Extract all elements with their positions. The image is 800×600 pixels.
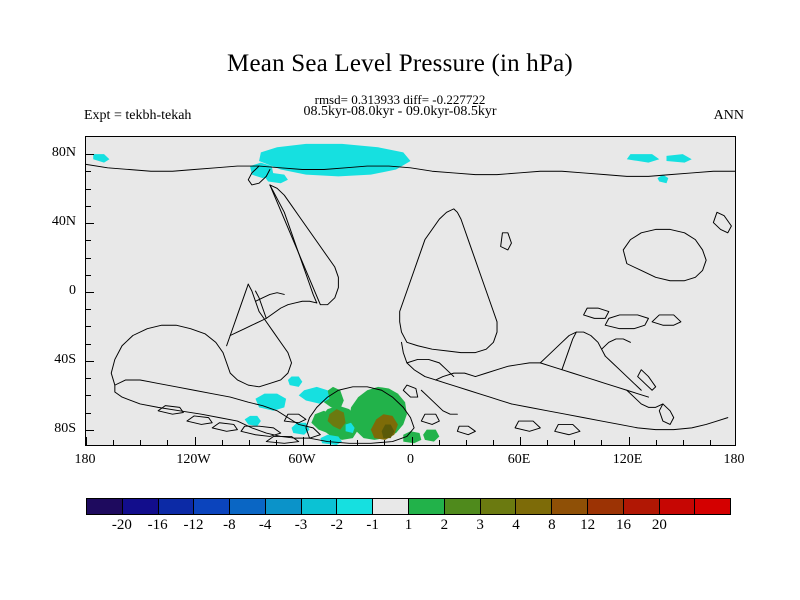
colorbar-tick-label: 1: [405, 517, 413, 534]
x-tick-minor: [656, 440, 657, 445]
colorbar-segment-10: [444, 499, 480, 514]
y-axis-label-0: 80N: [30, 145, 76, 161]
y-tick-minor: [86, 240, 91, 241]
colorbar-tick-label: 2: [441, 517, 449, 534]
anomaly-svalbard-green: [423, 430, 439, 442]
x-tick-minor: [167, 440, 168, 445]
x-tick-minor: [493, 440, 494, 445]
x-axis-label-6: 180: [724, 452, 745, 468]
anomaly-spacific-cyan-2: [666, 154, 691, 163]
colorbar-segment-8: [372, 499, 408, 514]
colorbar-segment-7: [336, 499, 372, 514]
y-axis-label-4: 80S: [30, 421, 76, 437]
y-tick-minor: [86, 326, 91, 327]
x-tick-180w: [86, 437, 87, 445]
x-axis-label-2: 60W: [288, 452, 315, 468]
y-tick-minor: [86, 189, 91, 190]
y-axis-label-3: 40S: [30, 352, 76, 368]
page-title: Mean Sea Level Pressure (in hPa): [0, 50, 800, 78]
x-tick-minor: [601, 440, 602, 445]
x-tick-minor: [574, 440, 575, 445]
x-tick-120w: [195, 437, 196, 445]
colorbar-segment-3: [193, 499, 229, 514]
colorbar-tick-label: 3: [476, 517, 484, 534]
colorbar-tick-label: -16: [148, 517, 168, 534]
y-tick-minor: [86, 258, 91, 259]
colorbar-tick-label: -12: [184, 517, 204, 534]
anomaly-baffin-cyan: [299, 387, 330, 404]
x-tick-60w: [303, 437, 304, 445]
y-tick-40s: [86, 361, 94, 362]
anomaly-spacific-cyan-1: [627, 154, 659, 163]
x-axis-label-3: 0: [407, 452, 414, 468]
y-tick-80s: [86, 430, 94, 431]
y-tick-minor: [86, 309, 91, 310]
experiment-label: Expt = tekbh-tekah: [84, 108, 191, 124]
x-tick-0: [412, 437, 413, 445]
x-tick-minor: [113, 440, 114, 445]
y-tick-minor: [86, 413, 91, 414]
x-tick-minor: [140, 440, 141, 445]
anomaly-satlantic-cyan: [93, 154, 109, 163]
anomaly-weddell-cyan: [259, 144, 410, 177]
y-tick-80n: [86, 154, 94, 155]
x-tick-minor: [466, 440, 467, 445]
x-tick-180e: [735, 437, 736, 445]
y-axis-label-2: 0: [30, 283, 76, 299]
x-axis-label-0: 180: [75, 452, 96, 468]
colorbar-tick-label: 20: [652, 517, 667, 534]
x-tick-minor: [710, 440, 711, 445]
colorbar-tick-label: 12: [580, 517, 595, 534]
colorbar-segment-2: [158, 499, 194, 514]
map-plot-area: [85, 136, 736, 446]
colorbar-segment-11: [480, 499, 516, 514]
y-tick-minor: [86, 275, 91, 276]
colorbar-labels: -20-16-12-8-4-3-2-112348121620: [86, 517, 731, 539]
colorbar-tick-label: 8: [548, 517, 556, 534]
colorbar-segment-6: [301, 499, 337, 514]
colorbar-segment-9: [408, 499, 444, 514]
x-tick-minor: [330, 440, 331, 445]
x-tick-minor: [249, 440, 250, 445]
anomaly-arctic-cyan-3: [245, 416, 261, 426]
colorbar-segment-12: [515, 499, 551, 514]
colorbar-segment-13: [551, 499, 587, 514]
colorbar-tick-label: -4: [259, 517, 272, 534]
colorbar-segment-14: [587, 499, 623, 514]
x-tick-minor: [276, 440, 277, 445]
world-map-svg: [86, 137, 735, 445]
anomaly-labrador-cyan: [288, 377, 302, 387]
colorbar-tick-label: 16: [616, 517, 631, 534]
y-tick-minor: [86, 171, 91, 172]
x-tick-minor: [384, 440, 385, 445]
colorbar-tick-label: -8: [223, 517, 236, 534]
colorbar-tick-label: -2: [331, 517, 344, 534]
colorbar: [86, 498, 731, 515]
x-axis-label-5: 120E: [613, 452, 643, 468]
y-tick-minor: [86, 344, 91, 345]
x-tick-60e: [520, 437, 521, 445]
y-axis-label-1: 40N: [30, 214, 76, 230]
x-tick-minor: [222, 440, 223, 445]
x-tick-minor: [683, 440, 684, 445]
y-tick-0: [86, 292, 94, 293]
coastline-layer: [86, 164, 735, 443]
colorbar-tick-label: -20: [112, 517, 132, 534]
season-label: ANN: [714, 108, 744, 124]
colorbar-tick-label: -3: [295, 517, 308, 534]
y-tick-minor: [86, 395, 91, 396]
colorbar-segment-17: [694, 499, 730, 514]
x-tick-120e: [629, 437, 630, 445]
y-tick-40n: [86, 223, 94, 224]
x-tick-minor: [439, 440, 440, 445]
colorbar-segment-5: [265, 499, 301, 514]
x-axis-label-4: 60E: [508, 452, 531, 468]
colorbar-segment-1: [122, 499, 158, 514]
colorbar-segment-16: [659, 499, 695, 514]
anomaly-shading-layer: [93, 144, 692, 445]
colorbar-segment-4: [229, 499, 265, 514]
x-tick-minor: [547, 440, 548, 445]
y-tick-minor: [86, 206, 91, 207]
x-tick-minor: [357, 440, 358, 445]
colorbar-segment-0: [87, 499, 122, 514]
colorbar-segment-15: [623, 499, 659, 514]
x-axis-label-1: 120W: [176, 452, 210, 468]
colorbar-tick-label: -1: [366, 517, 379, 534]
colorbar-tick-label: 4: [512, 517, 520, 534]
y-tick-minor: [86, 378, 91, 379]
